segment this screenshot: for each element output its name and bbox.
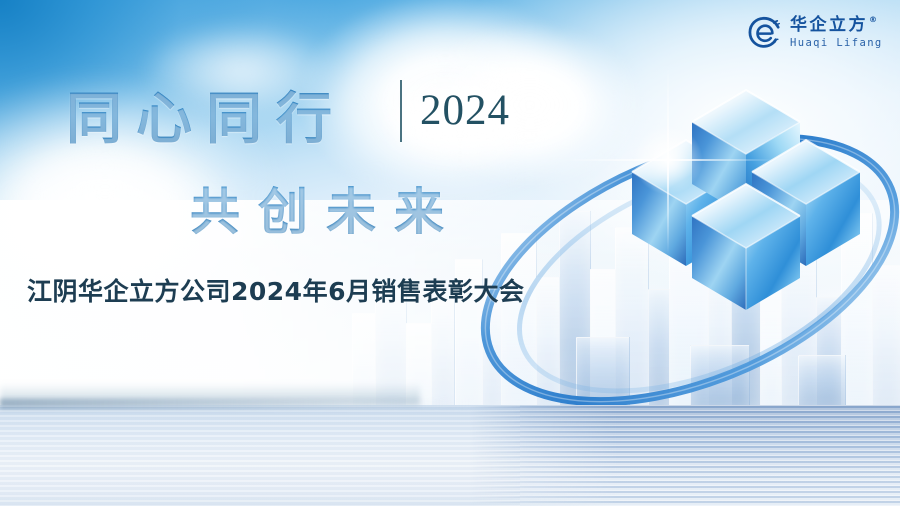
title-divider <box>400 80 402 142</box>
3d-cube-cluster-icon <box>596 60 896 360</box>
water-ripples-left <box>0 405 520 506</box>
event-subtitle: 江阴华企立方公司2024年6月销售表彰大会 <box>27 272 524 308</box>
brand-name-cn-text: 华企立方 <box>790 17 868 34</box>
brand-logo-text: 华企立方 ® Huaqi Lifang <box>790 17 883 49</box>
brand-name-en: Huaqi Lifang <box>790 38 883 49</box>
poster-canvas: 同心同行 2024 共创未来 江阴华企立方公司2024年6月销售表彰大会 华企立… <box>0 0 900 506</box>
brand-logo: 华企立方 ® Huaqi Lifang <box>748 16 883 50</box>
registered-trademark-icon: ® <box>869 16 880 24</box>
page-subtitle-headline: 共创未来 <box>190 172 462 244</box>
swirl-e-icon <box>748 16 782 50</box>
page-title: 同心同行 <box>66 74 346 155</box>
brand-name-cn: 华企立方 ® <box>790 17 883 34</box>
city-water-reflection <box>470 405 900 506</box>
year-label: 2024 <box>420 86 510 135</box>
water-reflection <box>0 405 900 506</box>
